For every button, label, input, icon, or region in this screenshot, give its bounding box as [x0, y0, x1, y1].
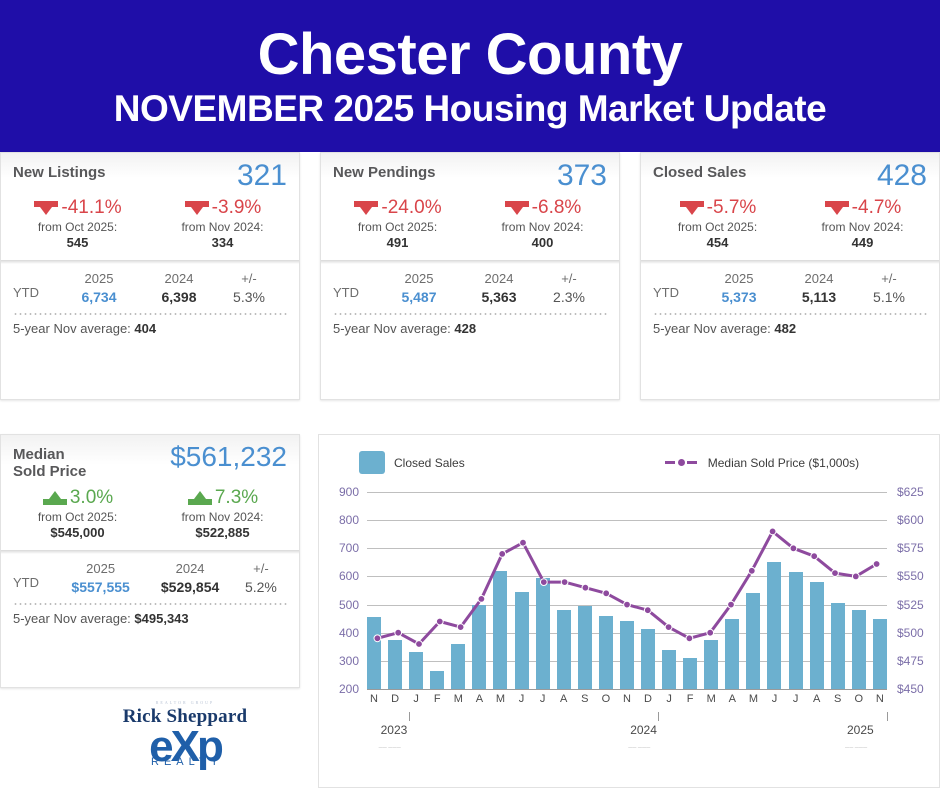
x-tick-month: O	[852, 693, 866, 705]
delta-row: -6.8%	[470, 197, 615, 219]
ytd-col-change: +/-5.3%	[219, 271, 279, 305]
x-tick-month: D	[641, 693, 655, 705]
line-marker	[644, 607, 651, 614]
page-title: Chester County	[258, 26, 683, 84]
line-marker	[686, 635, 693, 642]
delta-row: -4.7%	[790, 197, 935, 219]
year-tick	[409, 712, 410, 721]
year-label: 2025	[847, 723, 874, 737]
line-marker	[790, 545, 797, 552]
five-year-average-value: 404	[134, 321, 156, 336]
year-label: 2023	[381, 723, 408, 737]
delta-label: from Oct 2025:	[645, 220, 790, 234]
line-marker	[603, 590, 610, 597]
ytd-label: YTD	[333, 271, 379, 300]
ytd-head-2024: 2024	[139, 271, 219, 286]
ytd-label: YTD	[653, 271, 699, 300]
ytd-head-2025: 2025	[59, 271, 139, 286]
plot-canvas	[367, 492, 887, 689]
ytd-col-2024: 2024$529,854	[145, 561, 234, 595]
closed-sales-chart-panel: Closed Sales Median Sold Price ($1,000s)…	[318, 434, 940, 788]
ytd-head-2025: 2025	[699, 271, 779, 286]
delta-percent: -6.8%	[532, 197, 582, 219]
delta-row: 3.0%	[5, 487, 150, 509]
arrow-up-icon	[187, 489, 213, 507]
ytd-col-2024: 20246,398	[139, 271, 219, 305]
x-tick-month: J	[536, 693, 550, 705]
delta-comparison-value: 545	[5, 235, 150, 250]
ytd-table: YTD20255,37320245,113+/-5.1%	[641, 264, 939, 309]
stat-card: New Listings321-41.1%from Oct 2025:545-3…	[0, 152, 300, 400]
x-tick-month: J	[789, 693, 803, 705]
x-tick-month: F	[683, 693, 697, 705]
chart-footnote: —— ———	[845, 744, 867, 749]
five-year-average-value: 428	[454, 321, 476, 336]
card-title: New Listings	[13, 161, 106, 181]
ytd-value-2024: 6,398	[139, 289, 219, 305]
y-tick-left: 400	[319, 626, 359, 640]
y-tick-right: $600	[897, 513, 940, 527]
ytd-value-change: 2.3%	[539, 289, 599, 305]
card-title: MedianSold Price	[13, 443, 86, 481]
delta-percent: -3.9%	[212, 197, 262, 219]
delta-comparison-value: $545,000	[5, 525, 150, 540]
delta-block: 7.3%from Nov 2024:$522,885	[150, 487, 295, 540]
delta-percent: 3.0%	[70, 487, 113, 509]
y-tick-left: 600	[319, 569, 359, 583]
delta-label: from Oct 2025:	[5, 510, 150, 524]
line-marker	[624, 601, 631, 608]
y-tick-left: 800	[319, 513, 359, 527]
ytd-value-change: 5.1%	[859, 289, 919, 305]
delta-percent: -4.7%	[852, 197, 902, 219]
card-value: $561,232	[170, 443, 287, 471]
line-marker	[582, 584, 589, 591]
card-header: MedianSold Price$561,232	[1, 435, 299, 485]
ytd-head-2024: 2024	[145, 561, 234, 576]
ytd-col-change: +/-2.3%	[539, 271, 599, 305]
line-marker	[478, 596, 485, 603]
y-tick-right: $575	[897, 541, 940, 555]
ytd-col-2025: 20255,487	[379, 271, 459, 305]
x-tick-month: N	[620, 693, 634, 705]
x-tick-month: J	[409, 693, 423, 705]
line-marker	[728, 601, 735, 608]
year-tick	[887, 712, 888, 721]
delta-label: from Nov 2024:	[790, 220, 935, 234]
y-tick-right: $550	[897, 569, 940, 583]
card-header: New Listings321	[1, 153, 299, 195]
delta-label: from Oct 2025:	[5, 220, 150, 234]
delta-percent: -41.1%	[61, 197, 121, 219]
delta-label: from Nov 2024:	[150, 220, 295, 234]
chart-footnote: —— ———	[628, 744, 650, 749]
delta-block: 3.0%from Oct 2025:$545,000	[5, 487, 150, 540]
ytd-value-2024: 5,363	[459, 289, 539, 305]
page-subtitle: NOVEMBER 2025 Housing Market Update	[114, 90, 826, 127]
stat-card: New Pendings373-24.0%from Oct 2025:491-6…	[320, 152, 620, 400]
ytd-table: YTD20256,73420246,398+/-5.3%	[1, 264, 299, 309]
line-marker	[561, 579, 568, 586]
arrow-down-icon	[504, 199, 530, 217]
ytd-value-2025: 5,487	[379, 289, 459, 305]
delta-block: -5.7%from Oct 2025:454	[645, 197, 790, 250]
ytd-value-change: 5.3%	[219, 289, 279, 305]
x-tick-month: M	[704, 693, 718, 705]
chart-footnote: —— ———	[379, 744, 401, 749]
five-year-average: 5-year Nov average: 404	[1, 315, 299, 344]
x-axis-month-labels: NDJFMAMJJASONDJFMAMJJASON	[367, 693, 887, 705]
x-tick-month: S	[578, 693, 592, 705]
ytd-col-2025: 2025$557,555	[56, 561, 145, 595]
line-marker	[436, 618, 443, 625]
ytd-value-2025: 6,734	[59, 289, 139, 305]
chart-legend: Closed Sales Median Sold Price ($1,000s)	[319, 435, 939, 474]
ytd-table: YTD20255,48720245,363+/-2.3%	[321, 264, 619, 309]
delta-block: -24.0%from Oct 2025:491	[325, 197, 470, 250]
card-deltas: 3.0%from Oct 2025:$545,0007.3%from Nov 2…	[1, 485, 299, 550]
ytd-value-2025: $557,555	[56, 579, 145, 595]
delta-block: -41.1%from Oct 2025:545	[5, 197, 150, 250]
delta-percent: -24.0%	[381, 197, 441, 219]
delta-label: from Oct 2025:	[325, 220, 470, 234]
card-title: Closed Sales	[653, 161, 746, 181]
card-deltas: -24.0%from Oct 2025:491-6.8%from Nov 202…	[321, 195, 619, 260]
stat-card: MedianSold Price$561,2323.0%from Oct 202…	[0, 434, 300, 688]
x-tick-month: M	[746, 693, 760, 705]
line-marker	[665, 624, 672, 631]
five-year-average: 5-year Nov average: $495,343	[1, 605, 299, 634]
delta-block: -6.8%from Nov 2024:400	[470, 197, 615, 250]
legend-item-median-sold-price: Median Sold Price ($1,000s)	[665, 456, 859, 470]
arrow-down-icon	[33, 199, 59, 217]
y-tick-left: 500	[319, 598, 359, 612]
y-tick-right: $475	[897, 654, 940, 668]
card-value: 373	[557, 161, 607, 191]
line-marker	[769, 528, 776, 535]
delta-label: from Nov 2024:	[470, 220, 615, 234]
y-tick-right: $500	[897, 626, 940, 640]
x-tick-month: A	[810, 693, 824, 705]
ytd-col-change: +/-5.1%	[859, 271, 919, 305]
ytd-col-2025: 20255,373	[699, 271, 779, 305]
x-tick-month: D	[388, 693, 402, 705]
ytd-table: YTD2025$557,5552024$529,854+/-5.2%	[1, 554, 299, 599]
line-marker	[416, 641, 423, 648]
chart-plot-area: 900800700600500400300200 $625$600$575$55…	[319, 484, 939, 774]
y-tick-right: $450	[897, 682, 940, 696]
card-header: New Pendings373	[321, 153, 619, 195]
delta-block: -4.7%from Nov 2024:449	[790, 197, 935, 250]
x-tick-month: J	[662, 693, 676, 705]
ytd-head-change: +/-	[539, 271, 599, 286]
ytd-head-2025: 2025	[379, 271, 459, 286]
five-year-average: 5-year Nov average: 428	[321, 315, 619, 344]
ytd-head-2024: 2024	[779, 271, 859, 286]
five-year-average-value: 482	[774, 321, 796, 336]
ytd-value-2025: 5,373	[699, 289, 779, 305]
x-tick-month: S	[831, 693, 845, 705]
line-marker	[748, 567, 755, 574]
arrow-down-icon	[824, 199, 850, 217]
five-year-average: 5-year Nov average: 482	[641, 315, 939, 344]
y-tick-left: 300	[319, 654, 359, 668]
x-tick-month: A	[472, 693, 486, 705]
delta-row: -41.1%	[5, 197, 150, 219]
ytd-value-change: 5.2%	[235, 579, 287, 595]
arrow-up-icon	[42, 489, 68, 507]
delta-row: -3.9%	[150, 197, 295, 219]
delta-comparison-value: $522,885	[150, 525, 295, 540]
x-tick-month: F	[430, 693, 444, 705]
card-deltas: -41.1%from Oct 2025:545-3.9%from Nov 202…	[1, 195, 299, 260]
legend-item-closed-sales: Closed Sales	[359, 451, 465, 474]
arrow-down-icon	[679, 199, 705, 217]
ytd-head-2024: 2024	[459, 271, 539, 286]
delta-block: -3.9%from Nov 2024:334	[150, 197, 295, 250]
ytd-head-2025: 2025	[56, 561, 145, 576]
ytd-col-2024: 20245,113	[779, 271, 859, 305]
delta-percent: 7.3%	[215, 487, 258, 509]
x-tick-month: M	[451, 693, 465, 705]
delta-label: from Nov 2024:	[150, 510, 295, 524]
y-tick-left: 700	[319, 541, 359, 555]
five-year-average-value: $495,343	[134, 611, 188, 626]
card-header: Closed Sales428	[641, 153, 939, 195]
branding-block: REALTOR GROUP Rick Sheppard eXp REALTY	[60, 700, 310, 768]
page-header: Chester County NOVEMBER 2025 Housing Mar…	[0, 0, 940, 152]
median-sold-price-line	[367, 492, 887, 689]
ytd-head-change: +/-	[219, 271, 279, 286]
ytd-head-change: +/-	[859, 271, 919, 286]
x-tick-month: O	[599, 693, 613, 705]
x-tick-month: J	[515, 693, 529, 705]
legend-line-median-sold-price	[665, 460, 699, 465]
y-tick-left: 200	[319, 682, 359, 696]
ytd-head-change: +/-	[235, 561, 287, 576]
legend-swatch-closed-sales	[359, 451, 385, 474]
delta-row: 7.3%	[150, 487, 295, 509]
year-tick	[658, 712, 659, 721]
ytd-col-2025: 20256,734	[59, 271, 139, 305]
legend-label-median-sold-price: Median Sold Price ($1,000s)	[708, 456, 859, 470]
y-tick-right: $625	[897, 485, 940, 499]
card-value: 428	[877, 161, 927, 191]
delta-comparison-value: 491	[325, 235, 470, 250]
card-deltas: -5.7%from Oct 2025:454-4.7%from Nov 2024…	[641, 195, 939, 260]
brand-micro-text: REALTOR GROUP	[60, 700, 310, 705]
y-tick-left: 900	[319, 485, 359, 499]
ytd-value-2024: 5,113	[779, 289, 859, 305]
delta-percent: -5.7%	[707, 197, 757, 219]
line-marker	[832, 570, 839, 577]
delta-comparison-value: 400	[470, 235, 615, 250]
ytd-value-2024: $529,854	[145, 579, 234, 595]
line-marker	[457, 624, 464, 631]
line-marker	[873, 561, 880, 568]
ytd-label: YTD	[13, 561, 56, 590]
line-marker	[395, 629, 402, 636]
x-tick-month: N	[367, 693, 381, 705]
x-tick-month: N	[873, 693, 887, 705]
delta-row: -5.7%	[645, 197, 790, 219]
ytd-label: YTD	[13, 271, 59, 300]
line-path	[377, 531, 876, 644]
delta-comparison-value: 449	[790, 235, 935, 250]
delta-row: -24.0%	[325, 197, 470, 219]
y-tick-right: $525	[897, 598, 940, 612]
line-marker	[811, 553, 818, 560]
line-marker	[374, 635, 381, 642]
exp-realty-logo: eXp	[149, 726, 221, 768]
arrow-down-icon	[353, 199, 379, 217]
year-label: 2024	[630, 723, 657, 737]
x-tick-month: A	[725, 693, 739, 705]
delta-comparison-value: 454	[645, 235, 790, 250]
card-title: New Pendings	[333, 161, 436, 181]
x-axis-line	[367, 689, 887, 690]
line-marker	[499, 551, 506, 558]
x-tick-month: A	[557, 693, 571, 705]
ytd-col-2024: 20245,363	[459, 271, 539, 305]
line-marker	[852, 573, 859, 580]
delta-comparison-value: 334	[150, 235, 295, 250]
arrow-down-icon	[184, 199, 210, 217]
legend-label-closed-sales: Closed Sales	[394, 456, 465, 470]
stat-card: Closed Sales428-5.7%from Oct 2025:454-4.…	[640, 152, 940, 400]
line-marker	[520, 539, 527, 546]
card-value: 321	[237, 161, 287, 191]
line-marker	[707, 629, 714, 636]
x-tick-month: J	[767, 693, 781, 705]
x-tick-month: M	[493, 693, 507, 705]
line-marker	[540, 579, 547, 586]
ytd-col-change: +/-5.2%	[235, 561, 287, 595]
